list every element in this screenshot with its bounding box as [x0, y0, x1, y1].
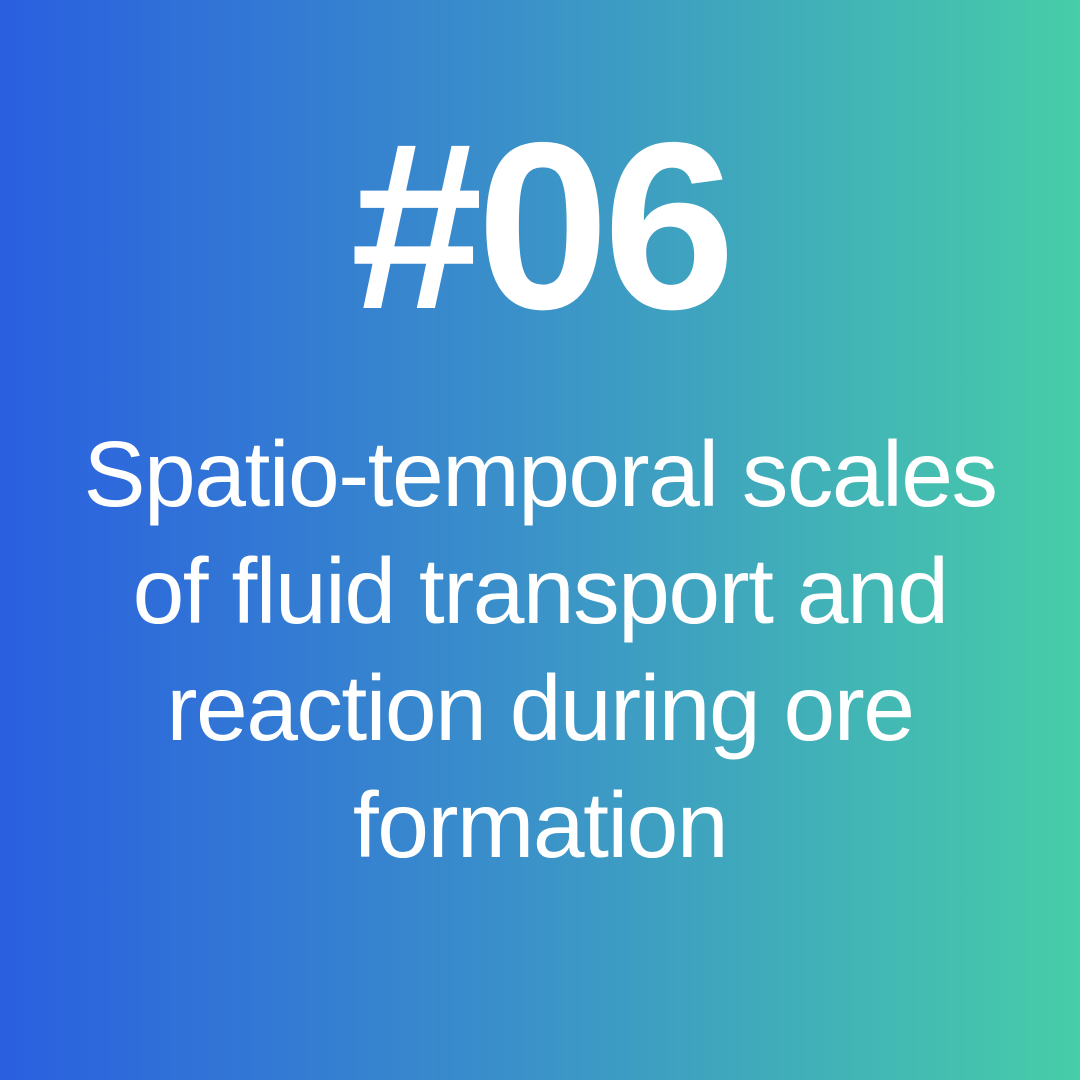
slide-title-line-1: Spatio-temporal scales [60, 416, 1020, 533]
slide-title: Spatio-temporal scales of fluid transpor… [60, 416, 1020, 884]
slide-title-line-3: reaction during ore [60, 650, 1020, 767]
slide-number-label: #06 [350, 108, 729, 346]
slide-canvas: #06 Spatio-temporal scales of fluid tran… [0, 0, 1080, 1080]
slide-title-line-2: of fluid transport and [60, 533, 1020, 650]
slide-title-line-4: formation [60, 767, 1020, 884]
